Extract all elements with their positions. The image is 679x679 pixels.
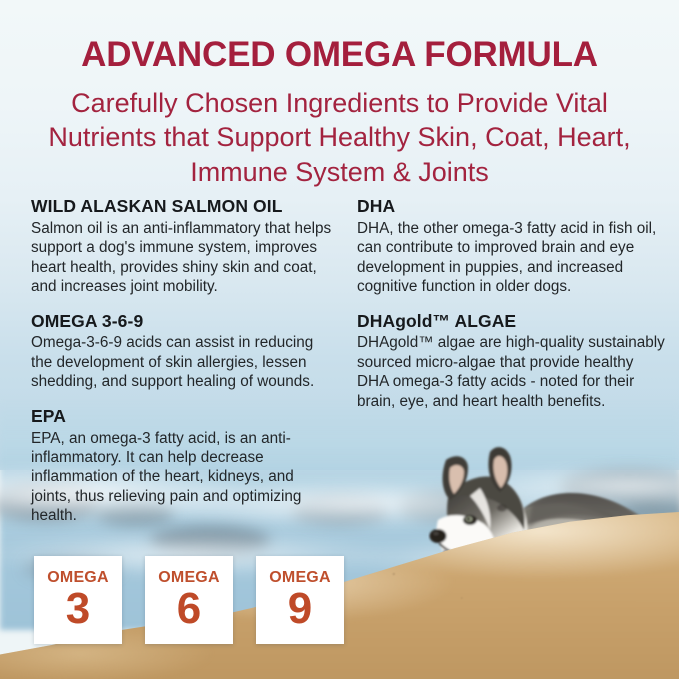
page-subtitle: Carefully Chosen Ingredients to Provide … — [40, 86, 639, 189]
omega-badge-6: OMEGA 6 — [145, 556, 233, 644]
feature-body: DHAgold™ algae are high-quality sustaina… — [357, 333, 669, 411]
right-column: DHA DHA, the other omega-3 fatty acid in… — [357, 196, 669, 540]
feature-block-dha: DHA DHA, the other omega-3 fatty acid in… — [357, 196, 669, 297]
feature-heading: WILD ALASKAN SALMON OIL — [31, 196, 336, 218]
feature-heading: OMEGA 3-6-9 — [31, 311, 336, 333]
feature-heading: DHAgold™ ALGAE — [357, 311, 669, 333]
feature-heading: DHA — [357, 196, 669, 218]
content-layer: ADVANCED OMEGA FORMULA Carefully Chosen … — [0, 0, 679, 679]
feature-heading: EPA — [31, 406, 336, 428]
feature-body: Omega-3-6-9 acids can assist in reducing… — [31, 333, 336, 391]
omega-formula-infographic: ADVANCED OMEGA FORMULA Carefully Chosen … — [0, 0, 679, 679]
feature-body: Salmon oil is an anti-inflammatory that … — [31, 219, 336, 297]
feature-block-epa: EPA EPA, an omega-3 fatty acid, is an an… — [31, 406, 336, 526]
feature-body: EPA, an omega-3 fatty acid, is an anti-i… — [31, 429, 336, 526]
left-column: WILD ALASKAN SALMON OIL Salmon oil is an… — [31, 196, 336, 540]
badge-number: 3 — [66, 587, 90, 632]
omega-badge-9: OMEGA 9 — [256, 556, 344, 644]
omega-badge-3: OMEGA 3 — [34, 556, 122, 644]
feature-columns: WILD ALASKAN SALMON OIL Salmon oil is an… — [31, 196, 665, 540]
feature-block-omega-369: OMEGA 3-6-9 Omega-3-6-9 acids can assist… — [31, 311, 336, 392]
feature-body: DHA, the other omega-3 fatty acid in fis… — [357, 219, 669, 297]
page-title: ADVANCED OMEGA FORMULA — [0, 36, 679, 74]
omega-badges: OMEGA 3 OMEGA 6 OMEGA 9 — [34, 556, 344, 644]
feature-block-salmon-oil: WILD ALASKAN SALMON OIL Salmon oil is an… — [31, 196, 336, 297]
badge-number: 6 — [177, 587, 201, 632]
badge-number: 9 — [288, 587, 312, 632]
feature-block-dhagold-algae: DHAgold™ ALGAE DHAgold™ algae are high-q… — [357, 311, 669, 412]
